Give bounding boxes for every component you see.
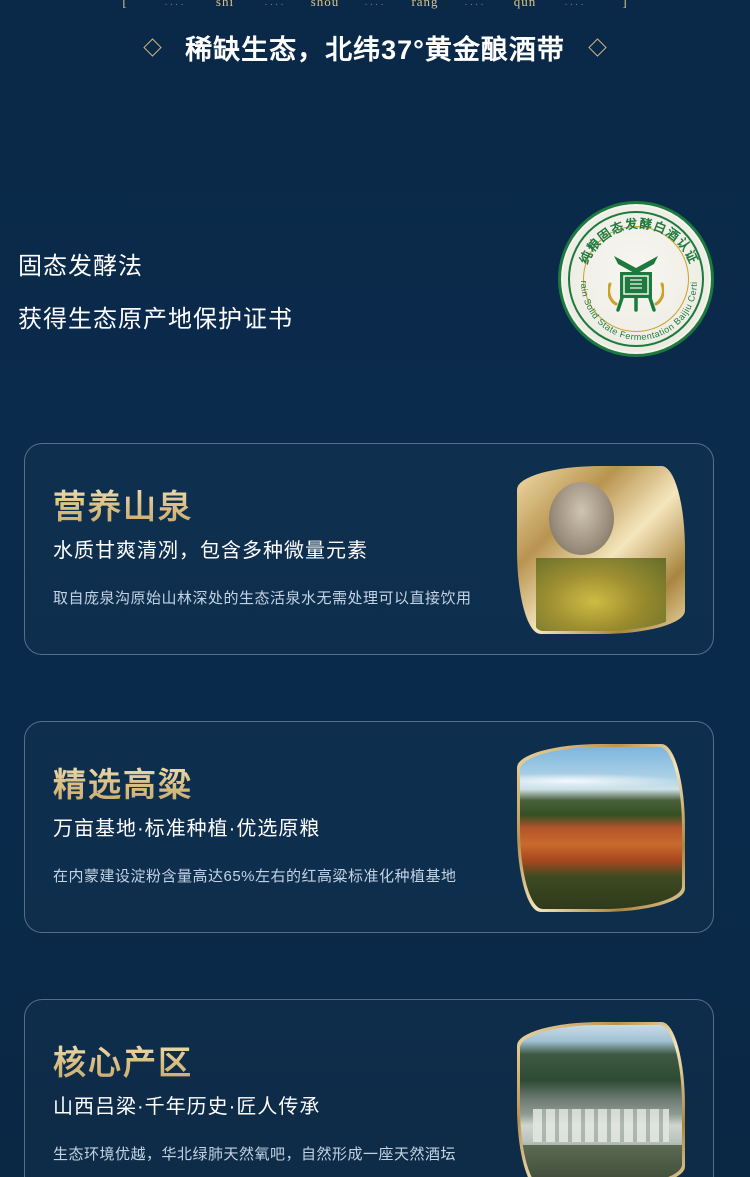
photo-inner [520,1025,682,1177]
card-subtitle: 水质甘爽清冽，包含多种微量元素 [53,534,368,563]
pinyin-separator: ···· [258,0,292,10]
photo-image-spring [520,469,682,631]
card-description: 取自庞泉沟原始山林深处的生态活泉水无需处理可以直接饮用 [53,587,472,608]
card-subtitle: 万亩基地·标准种植·优选原粮 [53,812,320,841]
feature-card-core-region: 核心产区 山西吕梁·千年历史·匠人传承 生态环境优越，华北绿肺天然氧吧，自然形成… [24,999,714,1177]
pinyin-item: shī [192,0,258,10]
photo-gold-frame [517,466,685,634]
pinyin-separator: ···· [358,0,392,10]
certificate-line-2: 获得生态原产地保护证书 [18,299,438,334]
section-headline: 稀缺生态，北纬37°黄金酿酒带 [0,28,750,67]
feature-card-sorghum: 精选高粱 万亩基地·标准种植·优选原粮 在内蒙建设淀粉含量高达65%左右的红高粱… [24,721,714,933]
photo-inner [520,469,682,631]
pinyin-separator: ···· [558,0,592,10]
mountain-spring-photo [517,466,685,634]
pinyin-item: [ [92,0,158,10]
diamond-icon [588,38,606,56]
product-detail-page: [ ···· shī ···· shòu ···· ráng ···· qūn … [0,0,750,1177]
sorghum-field-photo [517,744,685,912]
card-title: 营养山泉 [53,480,193,528]
diamond-icon [143,38,161,56]
photo-gold-frame [517,1022,685,1177]
core-region-photo [517,1022,685,1177]
photo-gold-frame [517,744,685,912]
pinyin-item: qūn [492,0,558,10]
card-title: 精选高粱 [53,758,193,806]
feature-card-mountain-spring: 营养山泉 水质甘爽清冽，包含多种微量元素 取自庞泉沟原始山林深处的生态活泉水无需… [24,443,714,655]
photo-image-field [520,747,682,909]
bronze-vessel-icon [608,250,664,312]
pinyin-item: shòu [292,0,358,10]
certification-seal: 纯粮固态发酵白酒认证 Pure Grain Solid State Fermen… [558,201,714,357]
certificate-line-1: 固态发酵法 [18,246,438,281]
pinyin-separator: ···· [158,0,192,10]
pinyin-item: ] [592,0,658,10]
pinyin-strip: [ ···· shī ···· shòu ···· ráng ···· qūn … [0,0,750,10]
pinyin-item: ráng [392,0,458,10]
card-subtitle: 山西吕梁·千年历史·匠人传承 [53,1090,320,1119]
photo-inner [520,747,682,909]
headline-text: 稀缺生态，北纬37°黄金酿酒带 [185,28,565,67]
photo-image-town [520,1025,682,1177]
card-description: 在内蒙建设淀粉含量高达65%左右的红高粱标准化种植基地 [53,865,457,886]
card-description: 生态环境优越，华北绿肺天然氧吧，自然形成一座天然酒坛 [53,1143,456,1164]
pinyin-separator: ···· [458,0,492,10]
certificate-text-block: 固态发酵法 获得生态原产地保护证书 [18,246,438,334]
card-title: 核心产区 [53,1036,193,1084]
